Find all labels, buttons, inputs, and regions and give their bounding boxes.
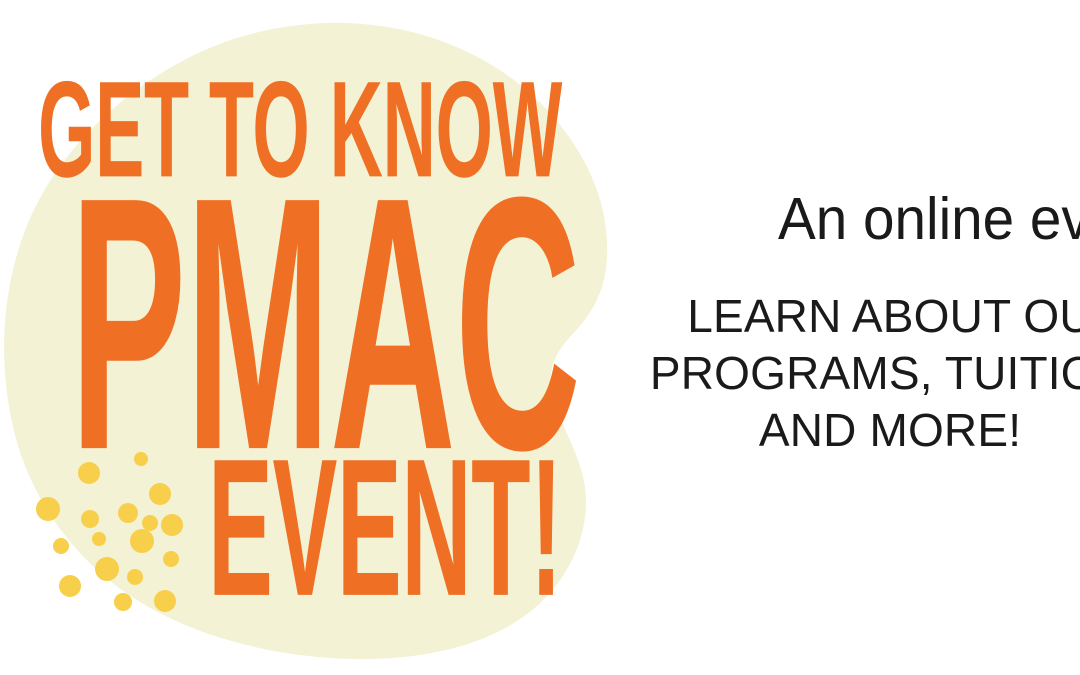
event-detail-line: AND MORE! xyxy=(608,402,1080,459)
event-detail-line: LEARN ABOUT OU xyxy=(608,288,1080,345)
event-detail-lines: LEARN ABOUT OU PROGRAMS, TUITION AND MOR… xyxy=(608,288,1080,459)
headline-stack: GET TO KNOW PMAC EVENT! xyxy=(0,0,660,675)
promo-poster: GET TO KNOW PMAC EVENT! An online even L… xyxy=(0,0,1080,675)
event-info-panel: An online even LEARN ABOUT OU PROGRAMS, … xyxy=(700,0,1080,675)
event-detail-line: PROGRAMS, TUITION xyxy=(608,345,1080,402)
headline-art-panel: GET TO KNOW PMAC EVENT! xyxy=(0,0,660,675)
online-event-kicker: An online even xyxy=(778,190,1080,249)
headline-line-event: EVENT! xyxy=(208,430,562,626)
